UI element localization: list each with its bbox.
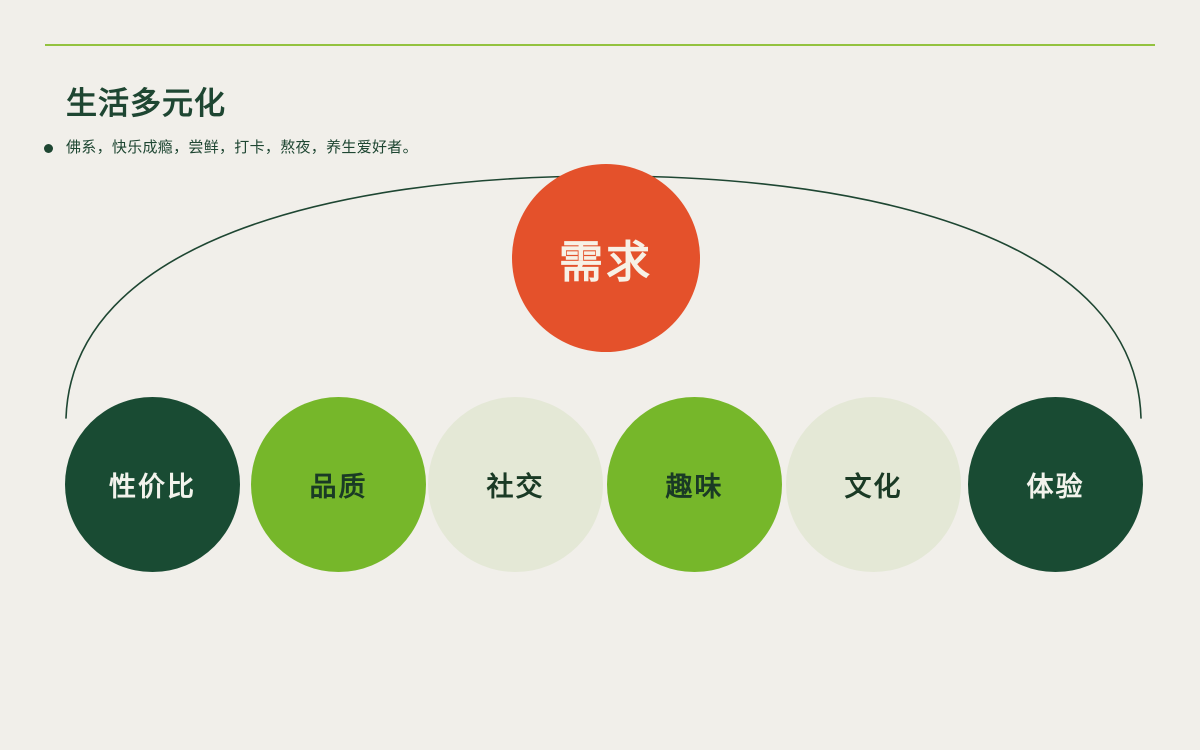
connector-arc bbox=[0, 0, 1200, 750]
node-label-5: 体验 bbox=[1027, 465, 1085, 504]
node-label-4: 文化 bbox=[845, 465, 903, 504]
hub-label: 需求 bbox=[559, 226, 653, 290]
hub-circle-demand[interactable]: 需求 bbox=[512, 164, 700, 352]
node-circle-5[interactable]: 体验 bbox=[968, 397, 1143, 572]
node-label-3: 趣味 bbox=[666, 465, 724, 504]
node-circle-3[interactable]: 趣味 bbox=[607, 397, 782, 572]
hub-and-spoke-diagram: 需求 性价比 品质 社交 趣味 文化 体验 bbox=[0, 0, 1200, 750]
slide-canvas: 生活多元化 佛系，快乐成瘾，尝鲜，打卡，熬夜，养生爱好者。 需求 性价比 品质 … bbox=[0, 0, 1200, 750]
node-label-1: 品质 bbox=[310, 465, 368, 504]
node-circle-0[interactable]: 性价比 bbox=[65, 397, 240, 572]
node-circle-4[interactable]: 文化 bbox=[786, 397, 961, 572]
node-label-2: 社交 bbox=[487, 465, 545, 504]
node-label-0: 性价比 bbox=[109, 465, 196, 504]
node-circle-1[interactable]: 品质 bbox=[251, 397, 426, 572]
node-circle-2[interactable]: 社交 bbox=[428, 397, 603, 572]
